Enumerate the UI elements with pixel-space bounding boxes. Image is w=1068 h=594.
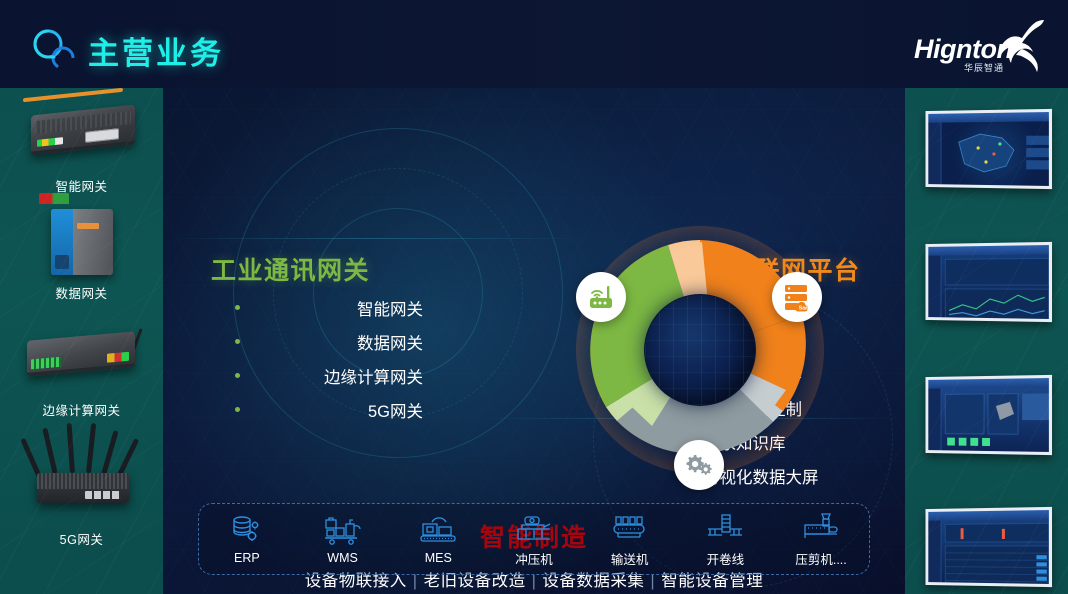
stamping-machine-icon [489,511,579,545]
data-gateway-device-photo [21,203,143,279]
product-label: 数据网关 [0,283,163,302]
brand-logo: Hignton 华辰智通 [904,16,1054,78]
app-label: 输送机 [585,549,675,568]
router-wifi-icon[interactable] [576,272,626,322]
shearing-machine-icon [776,511,866,545]
smart-gateway-device-photo [21,96,143,172]
list-item: 数据网关 [233,330,423,354]
application-icon-strip: ERP WMS [198,503,870,575]
app-item-erp[interactable]: ERP [202,513,292,565]
conveyor-icon [585,511,675,545]
gears-icon[interactable] [674,440,724,490]
app-item-stamping-machine[interactable]: 冲压机 [489,511,579,568]
database-gears-icon [202,513,292,547]
equipment-detail-dashboard-screenshot[interactable] [925,375,1052,455]
main-content-area: 工业通讯网关 智能网关 数据网关 边缘计算网关 5G网关 工业互联网平台 数据实… [163,88,905,594]
left-column-title: 工业通讯网关 [211,251,370,287]
circles-loop-icon [28,26,82,74]
svg-text:SaaS: SaaS [799,306,812,312]
app-item-uncoiling-line[interactable]: 开卷线 [680,511,770,568]
app-item-wms[interactable]: WMS [298,513,388,565]
donut-diagram: SaaS [590,240,810,460]
warehouse-cart-icon [298,513,388,547]
left-column-list: 智能网关 数据网关 边缘计算网关 5G网关 [233,296,423,432]
edge-computing-gateway-device-photo [21,320,143,396]
data-trend-dashboard-screenshot[interactable] [925,242,1052,322]
app-label: 压剪机.... [776,549,866,568]
app-label: 开卷线 [680,549,770,568]
5g-gateway-device-photo [21,433,143,525]
product-item-5g-gateway[interactable]: 5G网关 [0,433,163,548]
product-label: 5G网关 [0,529,163,548]
brand-chinese-name: 华辰智通 [964,61,1004,74]
app-label: 冲压机 [489,549,579,568]
app-item-conveyor[interactable]: 输送机 [585,511,675,568]
uncoiling-line-icon [680,511,770,545]
app-label: ERP [202,551,292,565]
page-title: 主营业务 [88,28,224,73]
app-label: WMS [298,551,388,565]
map-monitoring-dashboard-screenshot[interactable] [925,109,1052,189]
app-label: MES [393,551,483,565]
product-item-smart-gateway[interactable]: 智能网关 [0,96,163,195]
server-saas-icon[interactable]: SaaS [772,272,822,322]
left-product-panel: 智能网关 数据网关 边缘计算网关 [0,88,163,594]
list-item: 边缘计算网关 [233,364,423,388]
product-label: 边缘计算网关 [0,400,163,419]
donut-center-globe [645,295,755,405]
app-item-shearing-machine[interactable]: 压剪机.... [776,511,866,568]
right-dashboard-panel [905,88,1068,594]
product-item-data-gateway[interactable]: 数据网关 [0,203,163,302]
slide-canvas: 主营业务 Hignton 华辰智通 智能网关 [0,0,1068,594]
product-label: 智能网关 [0,176,163,195]
slide-header: 主营业务 Hignton 华辰智通 [0,0,1068,88]
production-line-icon [393,513,483,547]
list-item: 5G网关 [233,398,423,422]
alarm-table-dashboard-screenshot[interactable] [925,507,1052,587]
product-item-edge-gateway[interactable]: 边缘计算网关 [0,320,163,419]
app-item-mes[interactable]: MES [393,513,483,565]
list-item: 智能网关 [233,296,423,320]
